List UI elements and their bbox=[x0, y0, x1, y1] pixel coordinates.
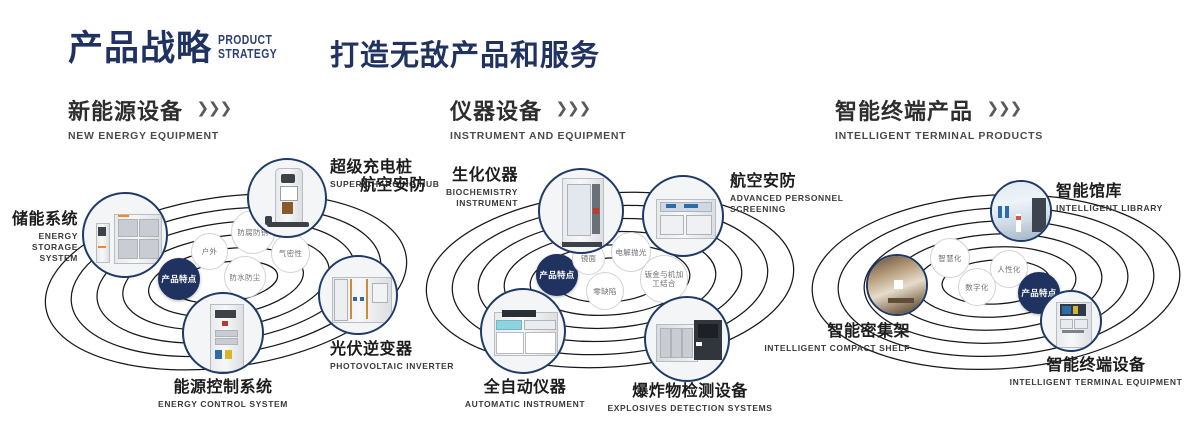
label-cn-aviation-security-left: 航空安防 bbox=[318, 176, 426, 195]
feature-bubble-1-4: 气密性 bbox=[271, 234, 310, 273]
page-title-cn: 产品战略 bbox=[68, 28, 212, 70]
energy-storage-system-image bbox=[84, 194, 166, 276]
node-photovoltaic-inverter[interactable] bbox=[318, 255, 398, 335]
feature-label-1-1: 户外 bbox=[202, 247, 218, 256]
section-title-en-1: NEW ENERGY EQUIPMENT bbox=[68, 130, 231, 142]
section-heading-new-energy: 新能源设备 ❯❯❯ NEW ENERGY EQUIPMENT bbox=[68, 94, 231, 142]
section-title-cn-1: 新能源设备 bbox=[68, 94, 183, 126]
page-title-en: PRODUCT STRATEGY bbox=[218, 33, 277, 61]
label-intelligent-library: 智能馆库 INTELLIGENT LIBRARY bbox=[1056, 182, 1196, 214]
label-cn-energy-control: 能源控制系统 bbox=[138, 378, 308, 397]
core-bubble-label-1: 产品特点 bbox=[161, 274, 196, 284]
label-automatic-instrument: 全自动仪器 AUTOMATIC INSTRUMENT bbox=[440, 378, 610, 410]
intelligent-terminal-equipment-image bbox=[1042, 292, 1100, 350]
cluster-intelligent-terminal-products: 智慧化 数字化 人性化 产品特点 智能馆库 INTELLIGENT LIBRAR… bbox=[800, 150, 1200, 400]
label-cn-explosives-detection: 爆炸物检测设备 bbox=[600, 382, 780, 401]
photovoltaic-inverter-image bbox=[320, 257, 396, 333]
section-title-cn-3: 智能终端产品 bbox=[835, 94, 973, 126]
cluster-instrument-and-equipment: 产品特点 镜面 电解抛光 零缺陷 钣金与机加工结合 生化仪器 BIOCHEMI bbox=[410, 150, 810, 400]
label-explosives-detection-systems: 爆炸物检测设备 EXPLOSIVES DETECTION SYSTEMS bbox=[600, 382, 780, 414]
page-title-en-line2: STRATEGY bbox=[218, 47, 277, 61]
label-energy-control-system: 能源控制系统 ENERGY CONTROL SYSTEM bbox=[138, 378, 308, 410]
feature-label-3-1: 智慧化 bbox=[938, 254, 961, 263]
label-en-energy-control: ENERGY CONTROL SYSTEM bbox=[138, 399, 308, 410]
feature-label-1-3: 防水防尘 bbox=[229, 273, 260, 282]
section-title-cn-2: 仪器设备 bbox=[450, 94, 542, 126]
energy-control-system-image bbox=[184, 294, 262, 372]
node-advanced-personnel-screening[interactable] bbox=[642, 175, 724, 257]
label-en-automatic-instrument: AUTOMATIC INSTRUMENT bbox=[440, 399, 610, 410]
feature-label-3-2: 数字化 bbox=[965, 283, 988, 292]
product-strategy-infographic: 产品战略 PRODUCT STRATEGY 打造无敌产品和服务 新能源设备 ❯❯… bbox=[0, 0, 1200, 422]
label-cn-intelligent-library: 智能馆库 bbox=[1056, 182, 1196, 201]
chevrons-icon-2: ❯❯❯ bbox=[555, 99, 590, 117]
page-header: 产品战略 PRODUCT STRATEGY 打造无敌产品和服务 bbox=[0, 0, 1200, 86]
node-intelligent-compact-shelf[interactable] bbox=[866, 254, 928, 316]
node-energy-control-system[interactable] bbox=[182, 292, 264, 374]
feature-label-2-3: 零缺陷 bbox=[593, 287, 616, 296]
page-subtitle: 打造无敌产品和服务 bbox=[330, 32, 600, 74]
advanced-personnel-screening-image bbox=[644, 177, 722, 255]
biochemistry-instrument-image bbox=[540, 170, 622, 252]
label-cn-terminal-equipment: 智能终端设备 bbox=[996, 356, 1196, 375]
chevrons-icon-1: ❯❯❯ bbox=[196, 99, 231, 117]
label-cn-compact-shelf: 智能密集架 bbox=[762, 322, 910, 341]
super-charging-hub-image bbox=[249, 160, 325, 236]
label-en-energy-storage: ENERGY STORAGE SYSTEM bbox=[0, 231, 78, 264]
automatic-instrument-image bbox=[482, 290, 564, 372]
feature-bubble-2-3: 零缺陷 bbox=[586, 272, 624, 310]
section-title-en-2: INSTRUMENT AND EQUIPMENT bbox=[450, 130, 626, 142]
label-en-terminal-equipment: INTELLIGENT TERMINAL EQUIPMENT bbox=[996, 377, 1196, 388]
node-intelligent-library[interactable] bbox=[990, 180, 1052, 242]
section-heading-instrument: 仪器设备 ❯❯❯ INSTRUMENT AND EQUIPMENT bbox=[450, 94, 626, 142]
chevrons-icon-3: ❯❯❯ bbox=[986, 99, 1021, 117]
intelligent-compact-shelf-image bbox=[868, 256, 926, 314]
feature-label-2-1: 镜面 bbox=[581, 254, 597, 263]
page-title-en-line1: PRODUCT bbox=[218, 33, 277, 47]
feature-bubble-1-1: 户外 bbox=[191, 233, 228, 270]
section-heading-intelligent-terminal: 智能终端产品 ❯❯❯ INTELLIGENT TERMINAL PRODUCTS bbox=[835, 94, 1043, 142]
section-title-en-3: INTELLIGENT TERMINAL PRODUCTS bbox=[835, 130, 1043, 142]
label-cn-automatic-instrument: 全自动仪器 bbox=[440, 378, 610, 397]
intelligent-library-image bbox=[992, 182, 1050, 240]
feature-label-3-3: 人性化 bbox=[997, 265, 1020, 274]
label-en-intelligent-library: INTELLIGENT LIBRARY bbox=[1056, 203, 1196, 214]
label-intelligent-terminal-equipment: 智能终端设备 INTELLIGENT TERMINAL EQUIPMENT bbox=[996, 356, 1196, 388]
feature-label-2-4: 钣金与机加工结合 bbox=[641, 270, 687, 288]
explosives-detection-image bbox=[646, 298, 728, 380]
label-intelligent-compact-shelf: 智能密集架 INTELLIGENT COMPACT SHELF bbox=[762, 322, 910, 354]
node-biochemistry-instrument[interactable] bbox=[538, 168, 624, 254]
node-intelligent-terminal-equipment[interactable] bbox=[1040, 290, 1102, 352]
core-bubble-label-2: 产品特点 bbox=[539, 270, 574, 280]
feature-label-1-4: 气密性 bbox=[279, 249, 302, 258]
node-energy-storage-system[interactable] bbox=[82, 192, 168, 278]
node-super-charging-hub[interactable] bbox=[247, 158, 327, 238]
node-explosives-detection-systems[interactable] bbox=[644, 296, 730, 382]
label-en-explosives-detection: EXPLOSIVES DETECTION SYSTEMS bbox=[600, 403, 780, 414]
label-cn-energy-storage: 储能系统 bbox=[0, 210, 78, 229]
node-automatic-instrument[interactable] bbox=[480, 288, 566, 374]
label-aviation-security-left: 航空安防 bbox=[318, 176, 426, 195]
label-en-compact-shelf: INTELLIGENT COMPACT SHELF bbox=[762, 343, 910, 354]
label-energy-storage-system: 储能系统 ENERGY STORAGE SYSTEM bbox=[0, 210, 78, 264]
